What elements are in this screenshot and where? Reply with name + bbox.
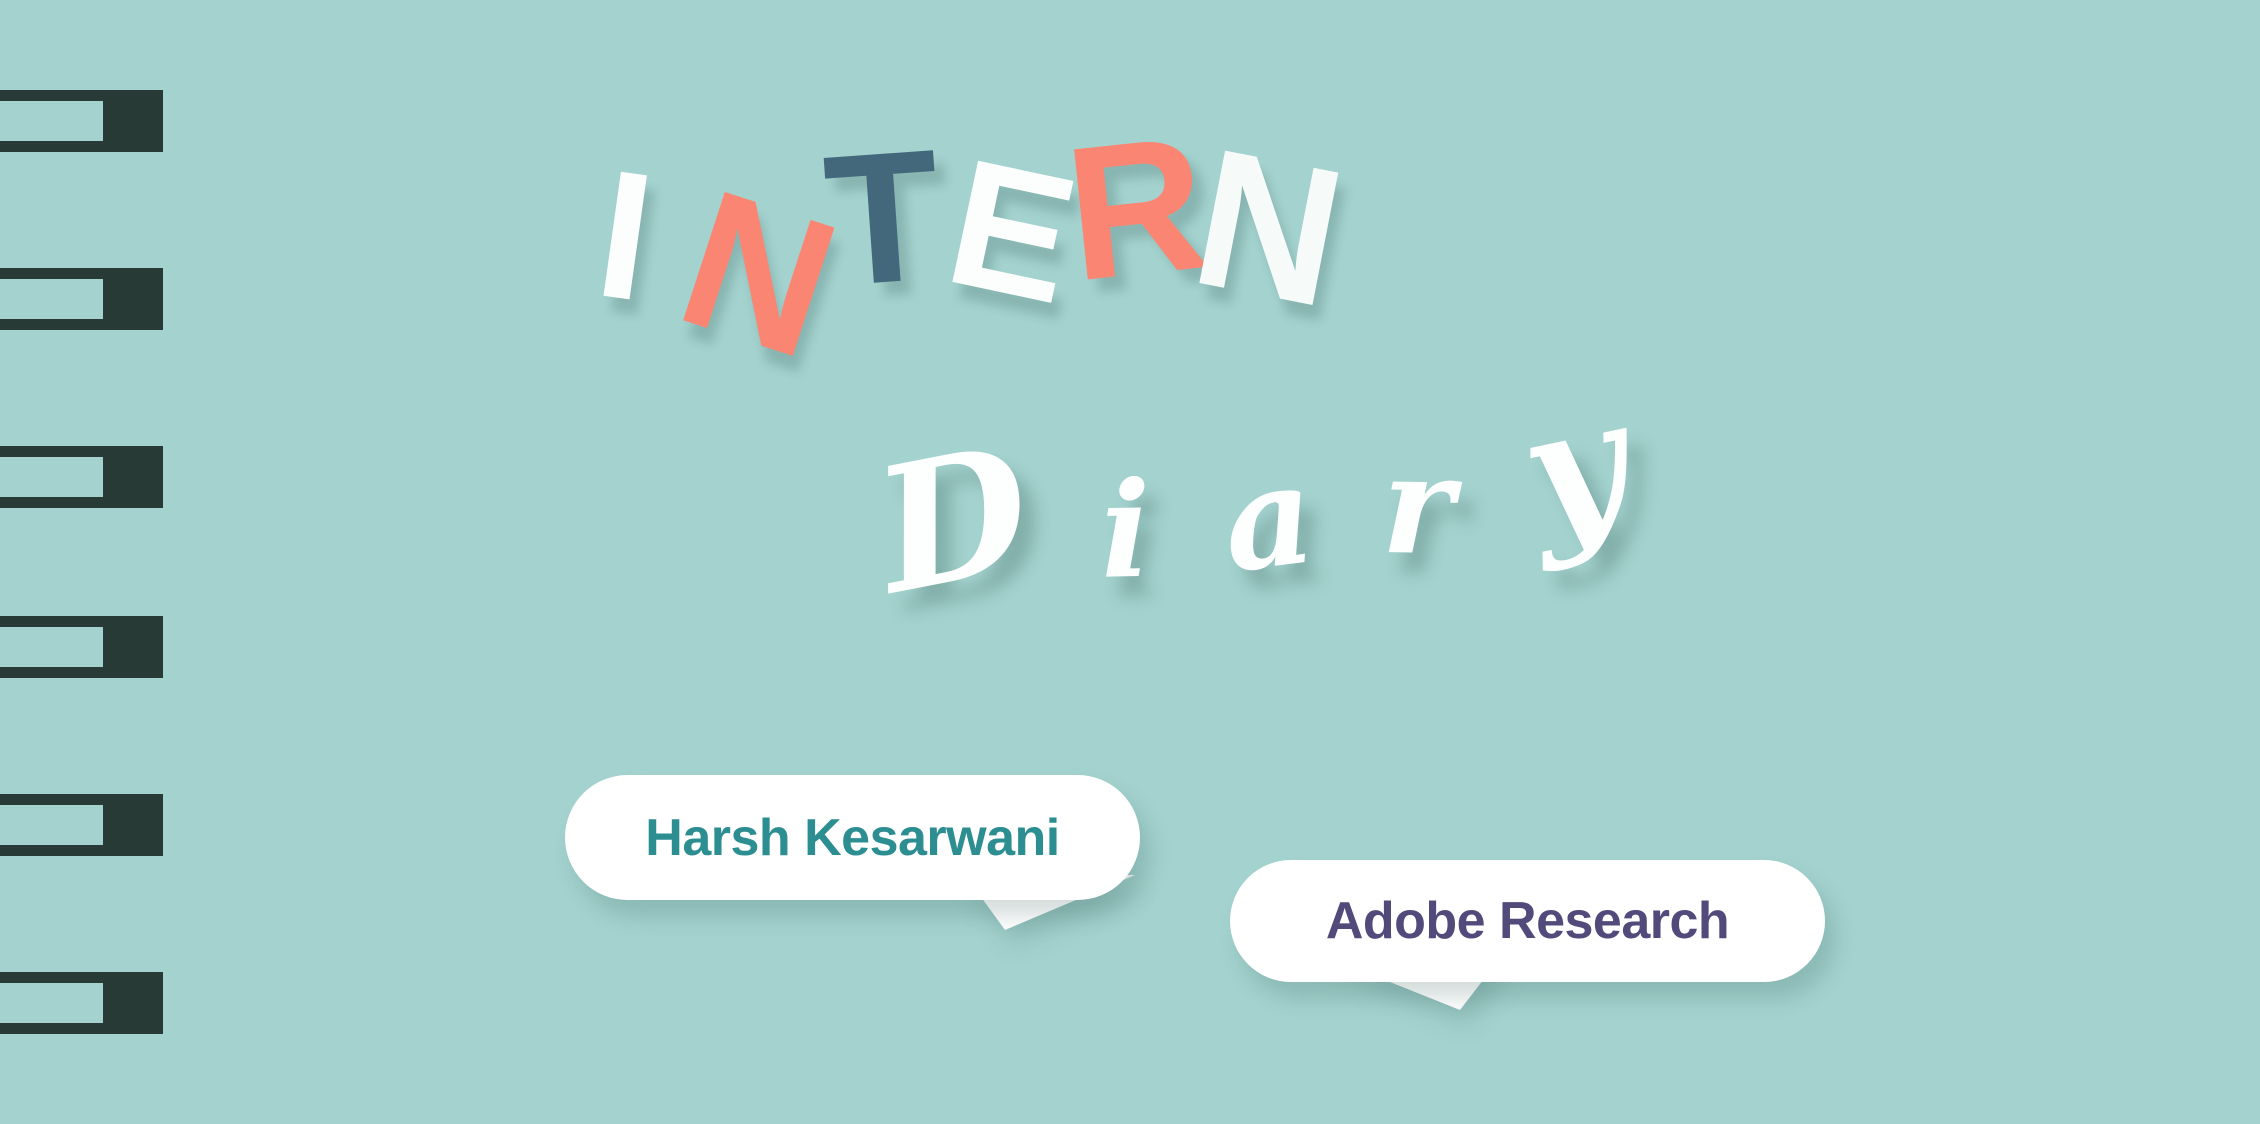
spiral-ring (0, 794, 163, 856)
title-slide-canvas: I N T E R N D i a r y Harsh Kesarwani Ad… (0, 0, 2260, 1124)
diary-letter-i: i (1100, 465, 1158, 598)
title-letter-i: I (588, 142, 661, 329)
spiral-ring (0, 972, 163, 1034)
diary-letter-y: y (1509, 374, 1647, 562)
speech-bubble-body: Harsh Kesarwani (565, 775, 1140, 900)
title-letter-t: T (820, 122, 944, 315)
notebook-spiral-binding (0, 0, 170, 1124)
page-title-intern: I N T E R N (600, 120, 1680, 380)
spiral-ring-hole (0, 805, 103, 845)
spiral-ring (0, 268, 163, 330)
speech-bubble-organization: Adobe Research (1230, 860, 1825, 982)
diary-letter-d: D (864, 420, 1049, 618)
spiral-ring-hole (0, 101, 103, 141)
spiral-ring (0, 446, 163, 508)
diary-letter-a: a (1216, 443, 1328, 592)
spiral-ring (0, 90, 163, 152)
spiral-ring-hole (0, 983, 103, 1023)
spiral-ring-hole (0, 627, 103, 667)
organization-label: Adobe Research (1326, 891, 1729, 951)
spiral-ring-hole (0, 279, 103, 319)
speech-bubble-body: Adobe Research (1230, 860, 1825, 982)
spiral-ring-hole (0, 457, 103, 497)
person-name-label: Harsh Kesarwani (645, 808, 1059, 868)
spiral-ring (0, 616, 163, 678)
page-title-diary: D i a r y (872, 383, 1529, 658)
speech-bubble-person-name: Harsh Kesarwani (565, 775, 1140, 900)
diary-letter-r: r (1381, 437, 1461, 574)
title-letter-n2: N (1181, 118, 1355, 337)
